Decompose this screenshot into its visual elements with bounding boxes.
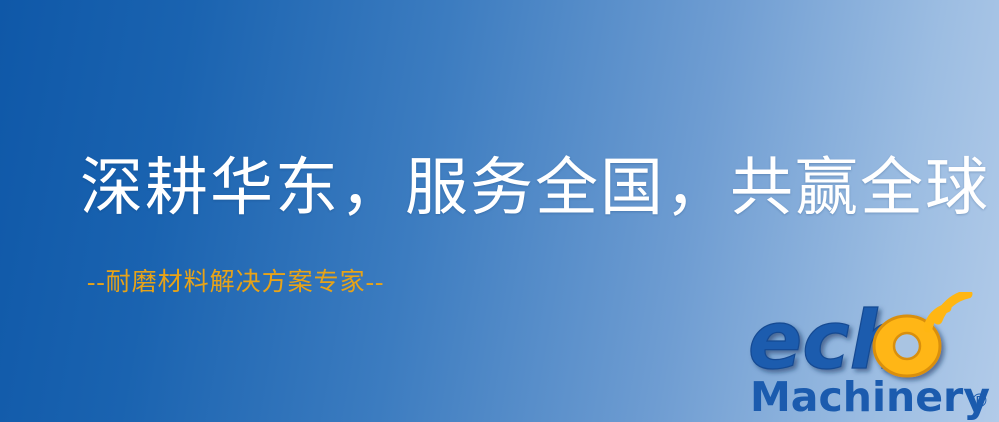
logo-machinery-label: Machinery xyxy=(750,373,990,420)
logo-o-counter xyxy=(894,333,920,359)
logo-machinery-text: Machinery ® xyxy=(750,373,990,420)
page-subtitle: --耐磨材料解决方案专家-- xyxy=(87,268,384,298)
signal-arc-outer xyxy=(938,294,968,320)
signal-waves-icon xyxy=(928,294,968,328)
brand-logo[interactable]: ech Machinery ® xyxy=(742,292,994,420)
registered-mark-icon: ® xyxy=(970,390,989,412)
hero-banner: 深耕华东，服务全国，共赢全球 --耐磨材料解决方案专家-- ech xyxy=(0,0,999,422)
page-title: 深耕华东，服务全国，共赢全球 xyxy=(80,152,990,224)
